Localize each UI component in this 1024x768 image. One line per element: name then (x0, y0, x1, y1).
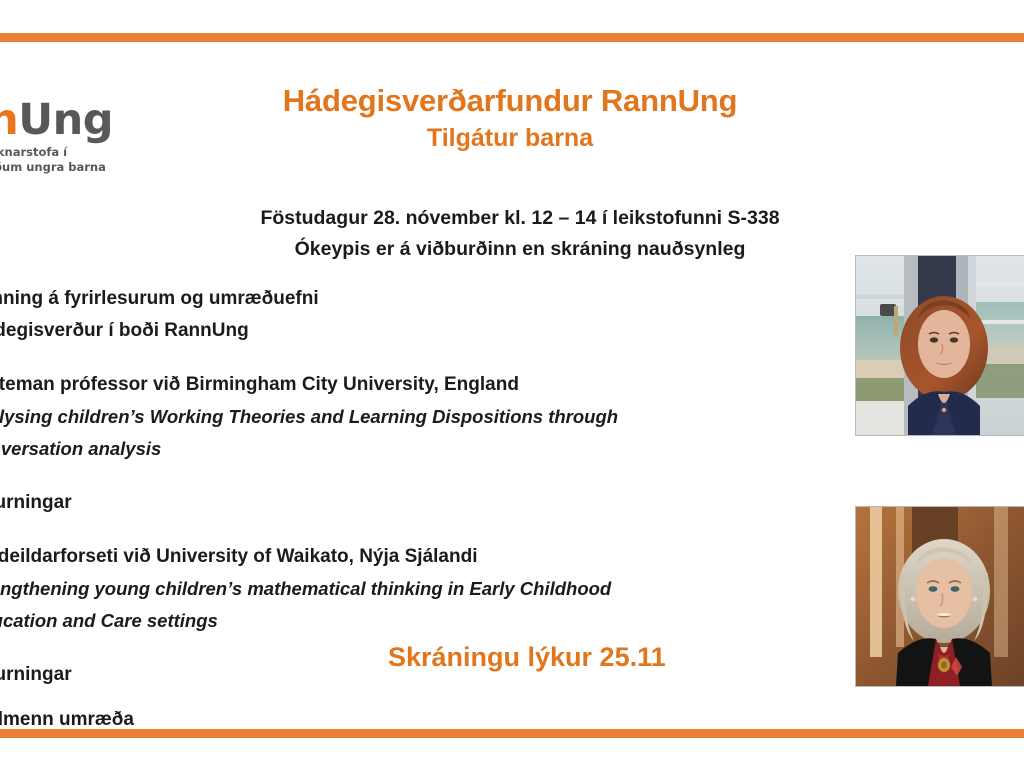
event-datetime-line: Föstudagur 28. nóvember kl. 12 – 14 í le… (150, 203, 890, 234)
spacer (0, 691, 768, 704)
programme-item: manda Bateman prófessor við Birmingham C… (0, 369, 768, 465)
logo-wordmark: nnUng (0, 96, 158, 144)
programme-item: ly Peters, deildarforseti við University… (0, 541, 768, 637)
programme-item-title: nin og kynning á fyrirlesurum og umræðue… (0, 283, 768, 315)
programme-item-talk-line1: Analysing children’s Working Theories an… (0, 401, 768, 433)
logo-tagline-line2: arfræðum ungra barna (0, 160, 158, 174)
page-subtitle: Tilgátur barna (180, 122, 840, 154)
programme-item-title: ntekt og almenn umræða (0, 704, 768, 736)
title-block: Hádegisverðarfundur RannUng Tilgátur bar… (180, 82, 840, 154)
spacer (0, 519, 768, 541)
logo-wordmark-rann: nn (0, 95, 18, 145)
speaker-photo-peters (855, 506, 1024, 687)
programme-item: nin og kynning á fyrirlesurum og umræðue… (0, 283, 768, 347)
programme-item-speaker: manda Bateman prófessor við Birmingham C… (0, 369, 768, 401)
logo-wordmark-ung: Ung (18, 95, 113, 145)
programme-item-talk-line2: Education and Care settings (0, 605, 768, 637)
programme-item-note: Hádegisverður í boði RannUng (0, 315, 768, 347)
portrait-bateman-image (856, 256, 1024, 435)
registration-deadline: Skráningu lýkur 25.11 (388, 640, 666, 674)
portrait-peters-image (856, 507, 1024, 686)
programme-item: ður og spurningar (0, 487, 768, 519)
spacer (0, 347, 768, 369)
programme-item-talk-line2: conversation analysis (0, 433, 768, 465)
rannung-logo: nnUng annsóknarstofa í arfræðum ungra ba… (0, 96, 158, 172)
spacer (0, 465, 768, 487)
programme-item-title: ður og spurningar (0, 487, 768, 519)
speaker-photo-bateman (855, 255, 1024, 436)
event-registration-line: Ókeypis er á viðburðinn en skráning nauð… (150, 234, 890, 265)
logo-tagline-line1: annsóknarstofa í (0, 145, 158, 159)
page-title: Hádegisverðarfundur RannUng (180, 82, 840, 120)
programme-item-talk-line1: Strengthening young children’s mathemati… (0, 573, 768, 605)
programme-item: ntekt og almenn umræða (0, 704, 768, 736)
programme-item-speaker: ly Peters, deildarforseti við University… (0, 541, 768, 573)
event-info: Föstudagur 28. nóvember kl. 12 – 14 í le… (150, 203, 890, 265)
poster-canvas: nnUng annsóknarstofa í arfræðum ungra ba… (0, 0, 1024, 768)
top-orange-rule (0, 33, 1024, 42)
